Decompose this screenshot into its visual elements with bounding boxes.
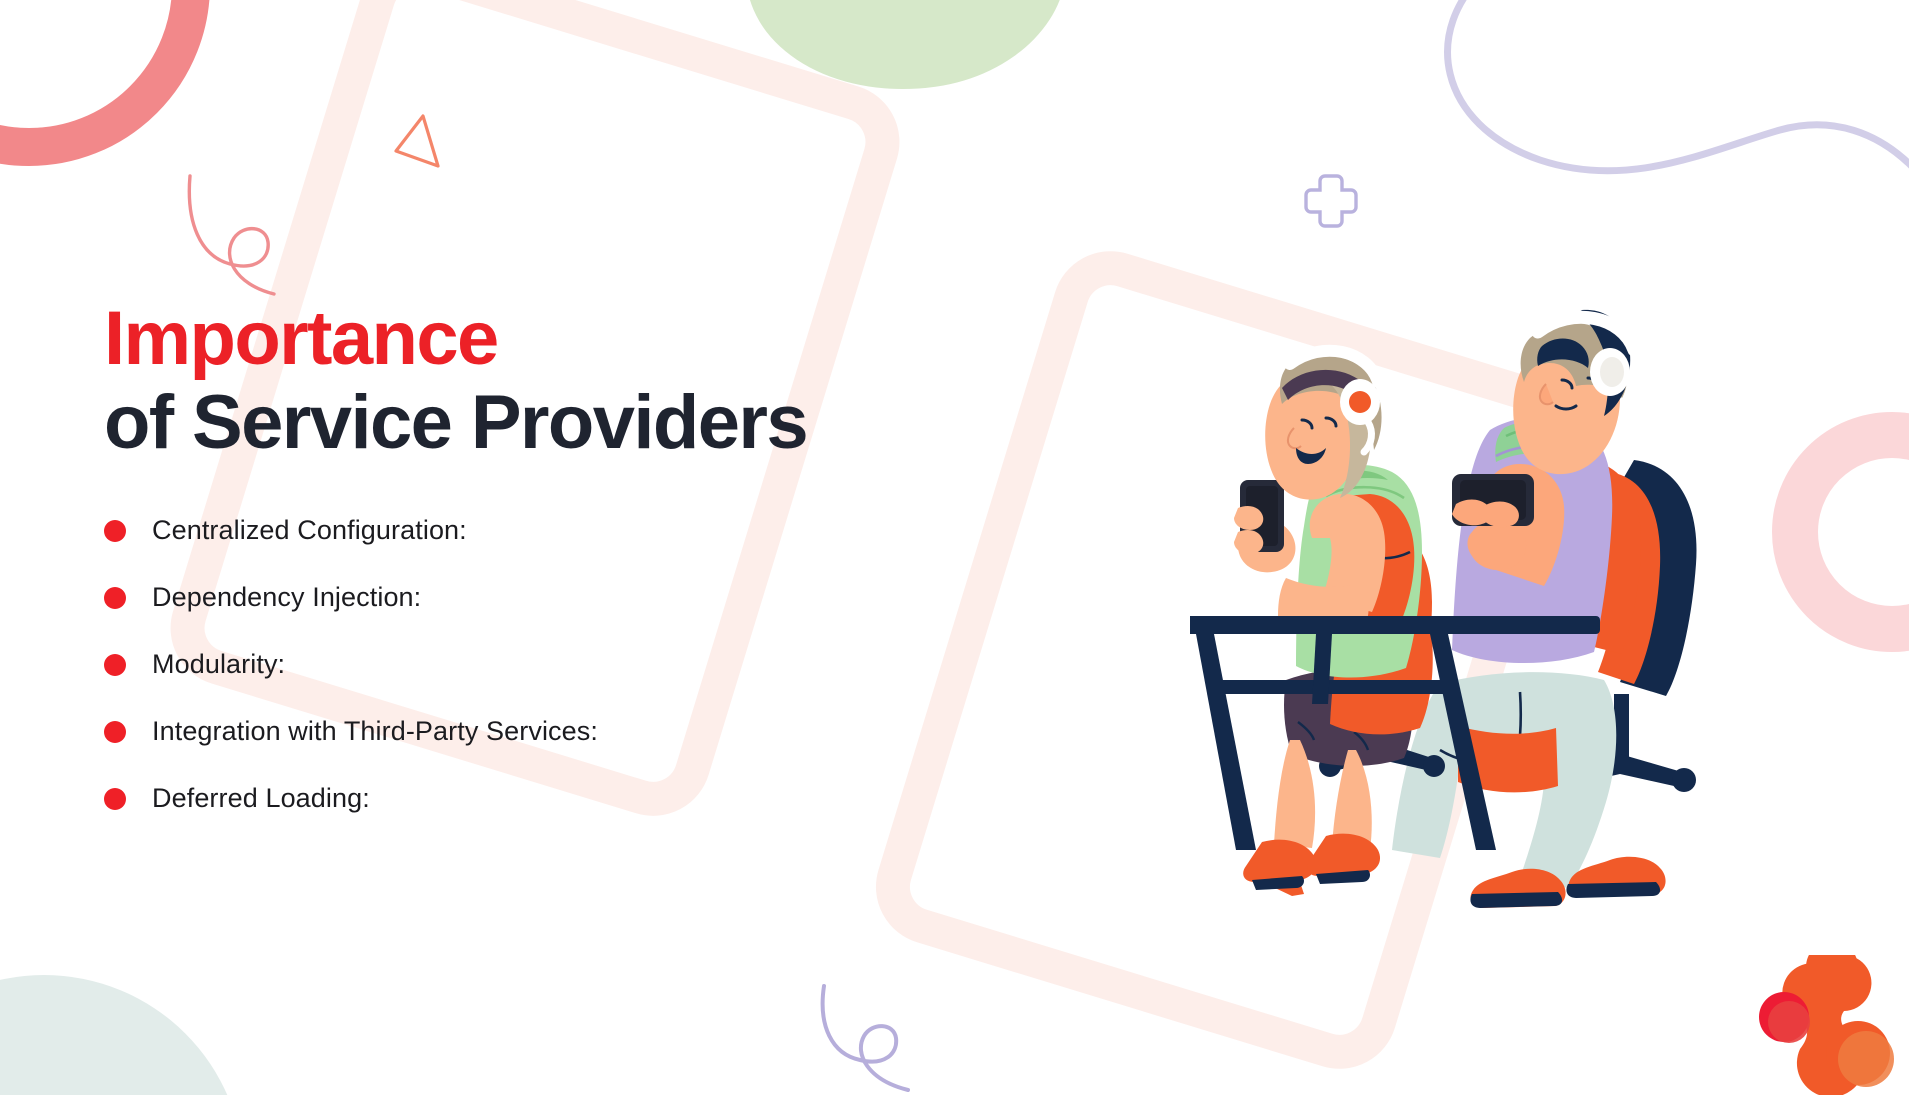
two-gamers-illustration [1190, 280, 1770, 920]
bullet-label: Deferred Loading: [152, 783, 370, 814]
list-item: Modularity: [104, 649, 984, 680]
circle-ring-icon [1772, 412, 1909, 652]
plus-outline-icon [1300, 170, 1362, 232]
dumbbell-blob-icon [1740, 955, 1909, 1095]
triangle-outline-icon [390, 110, 460, 180]
slide-canvas: Importance of Service Providers Centrali… [0, 0, 1909, 1095]
bullet-label: Centralized Configuration: [152, 515, 467, 546]
list-item: Centralized Configuration: [104, 515, 984, 546]
bullet-dot-icon [104, 788, 126, 810]
swirl-icon-lavender [812, 980, 962, 1095]
bullet-label: Modularity: [152, 649, 285, 680]
list-item: Integration with Third-Party Services: [104, 716, 984, 747]
bullet-dot-icon [104, 587, 126, 609]
bullet-list: Centralized Configuration: Dependency In… [104, 515, 984, 814]
bullet-dot-icon [104, 654, 126, 676]
slide-content: Importance of Service Providers Centrali… [104, 300, 984, 850]
bullet-label: Integration with Third-Party Services: [152, 716, 598, 747]
blob-icon-green [723, 0, 1082, 111]
bullet-dot-icon [104, 721, 126, 743]
wave-line-icon [1380, 0, 1909, 230]
page-title-main: of Service Providers [104, 384, 984, 462]
list-item: Dependency Injection: [104, 582, 984, 613]
bullet-dot-icon [104, 520, 126, 542]
page-title-accent: Importance [104, 300, 984, 378]
list-item: Deferred Loading: [104, 783, 984, 814]
swirl-icon-pink [178, 172, 308, 312]
bullet-label: Dependency Injection: [152, 582, 421, 613]
arc-ring-icon [0, 0, 210, 166]
circle-icon-sage [0, 975, 244, 1095]
